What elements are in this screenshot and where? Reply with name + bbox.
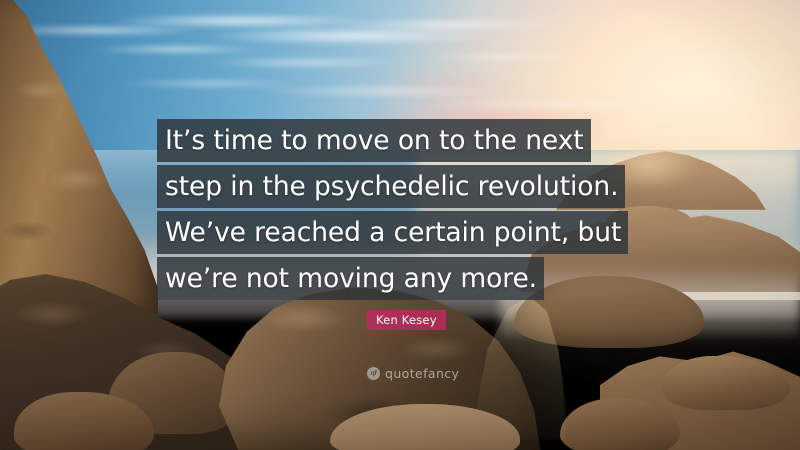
quote-poster: It’s time to move on to the next step in… [0, 0, 800, 450]
watermark[interactable]: qf quotefancy [367, 366, 459, 381]
quote-line-1: It’s time to move on to the next [157, 119, 591, 162]
quote-line-4: we’re not moving any more. [157, 257, 544, 300]
quotefancy-logo-text: qf [370, 370, 376, 377]
watermark-brand-label: quotefancy [385, 366, 459, 381]
quote-line-wrap: We’ve reached a certain point, but [157, 211, 657, 254]
quote-line-wrap: step in the psychedelic revolution. [157, 165, 657, 208]
quote-line-2: step in the psychedelic revolution. [157, 165, 625, 208]
quotefancy-logo-icon: qf [367, 367, 380, 380]
quote-text-block: It’s time to move on to the next step in… [157, 119, 657, 303]
quote-line-wrap: we’re not moving any more. [157, 257, 657, 300]
quote-line-wrap: It’s time to move on to the next [157, 119, 657, 162]
quote-line-3: We’ve reached a certain point, but [157, 211, 628, 254]
author-name-badge: Ken Kesey [367, 310, 446, 330]
